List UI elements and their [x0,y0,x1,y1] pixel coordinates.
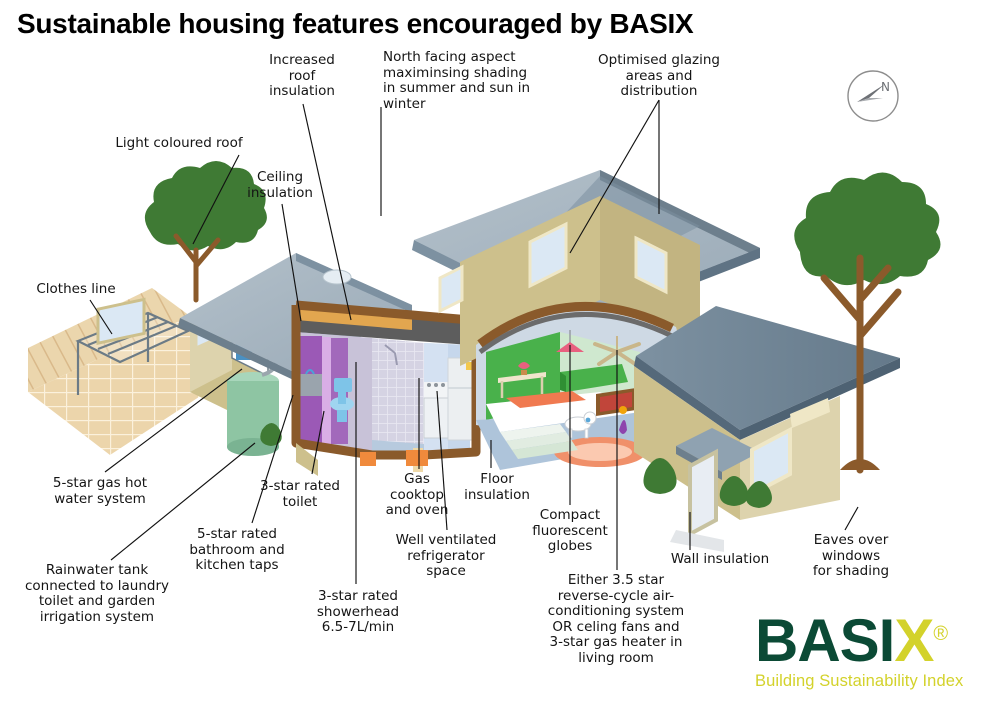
leader-line-five-star-gas-hot-water [105,369,242,472]
poster-canvas: Sustainable housing features encouraged … [0,0,1000,707]
callout-floor-insulation: Floor insulation [452,472,542,503]
callout-gas-cooktop-oven: Gas cooktop and oven [377,472,457,519]
page-title: Sustainable housing features encouraged … [17,8,797,40]
registered-trademark-icon: ® [933,623,947,645]
callout-rainwater-tank: Rainwater tank connected to laundry toil… [16,563,178,625]
leader-line-clothes-line [90,300,112,334]
callout-wall-insulation: Wall insulation [665,552,775,568]
basix-word-dark: BASI [755,607,894,674]
callout-eaves-over-windows: Eaves over windows for shading [803,533,899,580]
dog [565,412,596,438]
callout-increased-roof-insulation: Increased roof insulation [252,53,352,100]
north-compass-icon: N [845,68,901,124]
callout-well-ventilated-fridge: Well ventilated refrigerator space [387,533,505,580]
basix-logo: BASIX® Building Sustainability Index [755,612,987,691]
shrub-tank [260,423,281,446]
leader-lines [90,100,858,584]
compass-north-letter: N [881,80,890,94]
backyard-deck [28,288,268,455]
callout-air-conditioning: Either 3.5 star reverse-cycle air- condi… [540,573,692,666]
main-house-upper [412,170,760,366]
callout-light-coloured-roof: Light coloured roof [104,136,254,152]
leader-line-three-star-toilet [312,411,324,474]
living-room-cutaway [476,305,680,470]
callout-three-star-toilet: 3-star rated toilet [254,479,346,510]
left-roof [178,253,412,383]
leader-line-ceiling-insulation [282,204,301,321]
callout-five-star-gas-hot-water: 5-star gas hot water system [40,476,160,507]
callout-compact-fluorescent: Compact fluorescent globes [520,508,620,555]
right-wing [634,306,900,552]
clothes-line [78,313,188,395]
left-wing-wall [98,296,268,430]
basix-tagline: Building Sustainability Index [755,672,987,691]
callout-clothes-line: Clothes line [28,282,124,298]
toilet-fixture [330,378,354,422]
tree-right [794,172,940,470]
leader-line-eaves-over-windows [845,507,858,530]
basix-word-lime: X [894,607,933,674]
leader-line-increased-roof-insulation [303,104,351,320]
callout-five-star-taps: 5-star rated bathroom and kitchen taps [182,527,292,574]
callout-ceiling-insulation: Ceiling insulation [231,170,329,201]
cutaway-wet-areas [296,305,476,476]
callout-optimised-glazing: Optimised glazing areas and distribution [585,53,733,100]
hot-water-tank [227,352,279,456]
leader-line-optimised-glazing-2 [570,100,659,253]
basix-wordmark: BASIX® [755,612,987,670]
callout-north-facing-aspect: North facing aspect maximinsing shading … [383,50,543,112]
callout-three-star-showerhead: 3-star rated showerhead 6.5-7L/min [303,589,413,636]
